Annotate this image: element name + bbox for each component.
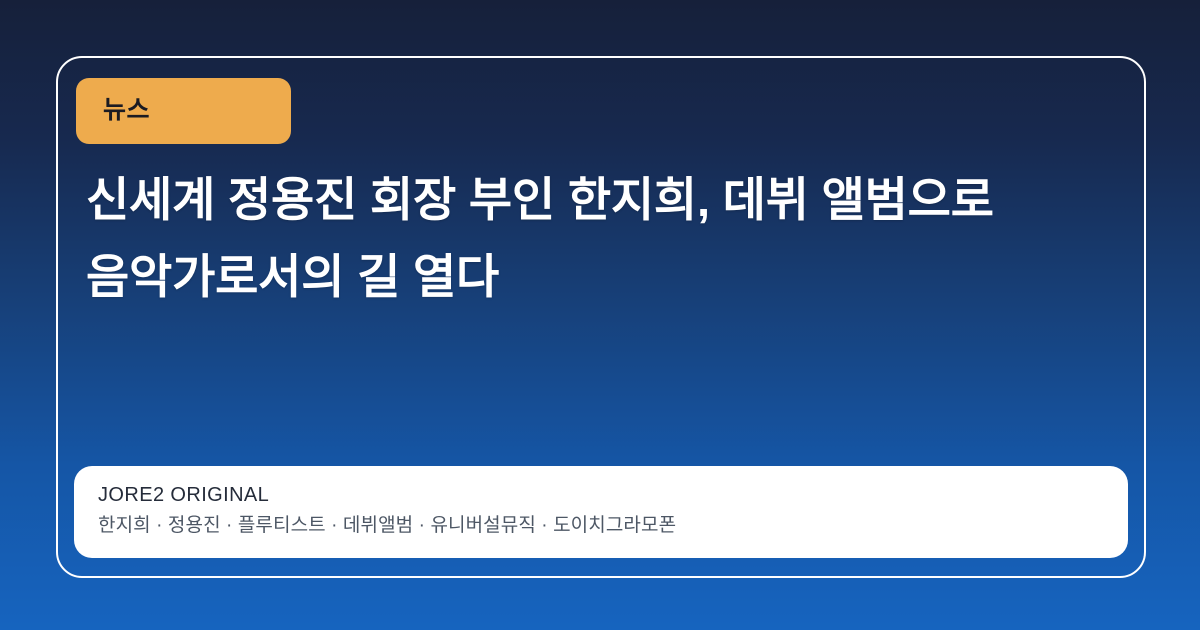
category-badge[interactable]: 뉴스	[76, 78, 291, 144]
brand-label: JORE2 ORIGINAL	[98, 482, 1104, 509]
og-image-canvas: 뉴스 신세계 정용진 회장 부인 한지희, 데뷔 앨범으로 음악가로서의 길 열…	[0, 0, 1200, 630]
content-card: 뉴스 신세계 정용진 회장 부인 한지희, 데뷔 앨범으로 음악가로서의 길 열…	[56, 56, 1146, 578]
page-title: 신세계 정용진 회장 부인 한지희, 데뷔 앨범으로 음악가로서의 길 열다	[86, 162, 1100, 315]
footer-card: JORE2 ORIGINAL 한지희 · 정용진 · 플루티스트 · 데뷔앨범 …	[74, 466, 1128, 558]
badge-row: 뉴스	[58, 58, 1144, 144]
tag-list: 한지희 · 정용진 · 플루티스트 · 데뷔앨범 · 유니버설뮤직 · 도이치그…	[98, 512, 1104, 540]
